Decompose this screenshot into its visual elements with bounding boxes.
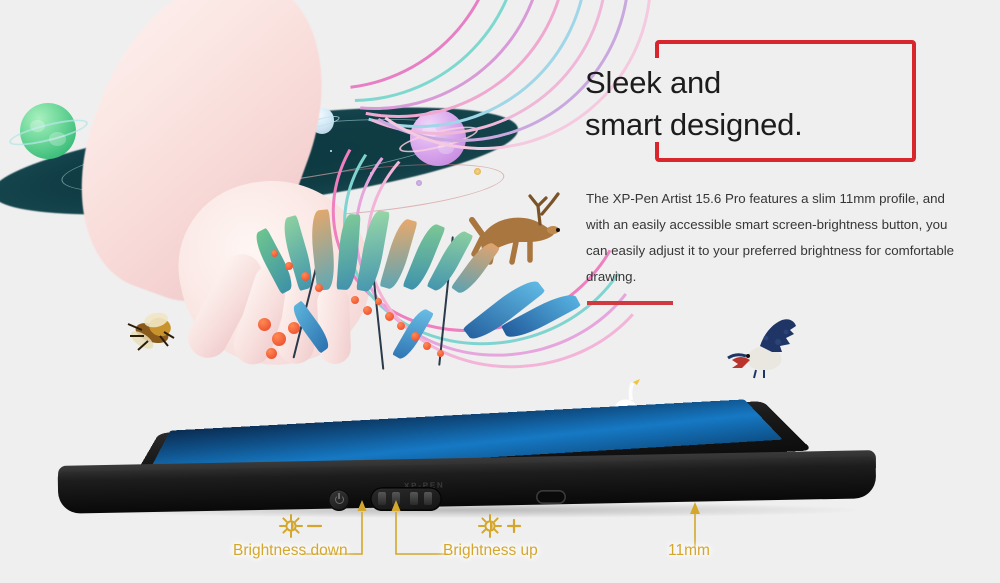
berry — [375, 298, 382, 305]
leaf — [309, 209, 337, 291]
leaf — [463, 274, 546, 346]
leaf — [251, 228, 298, 295]
berry — [385, 312, 394, 321]
planet-ring — [202, 119, 305, 164]
thickness-label: 11mm — [668, 542, 710, 560]
berry — [315, 284, 323, 292]
planet-spot — [49, 132, 66, 145]
leaf — [379, 217, 417, 291]
star — [262, 182, 264, 184]
leaf — [501, 288, 581, 343]
planet-tiny — [474, 168, 481, 175]
graphics-tablet — [40, 360, 880, 520]
planet-tiny — [416, 180, 422, 186]
berry — [423, 342, 431, 350]
page-title: Sleek and smart designed. — [585, 62, 803, 146]
finger — [229, 259, 297, 370]
sun-minus-icon — [277, 513, 329, 539]
planet-blue — [218, 104, 288, 174]
leaf — [289, 300, 334, 353]
star — [330, 150, 332, 152]
ribbon-strand — [112, 0, 593, 172]
brightness-down-label: Brightness down — [233, 542, 348, 560]
stem — [293, 242, 324, 359]
illustrated-palm — [163, 162, 387, 382]
star — [140, 168, 142, 170]
galaxy-ring — [58, 104, 462, 208]
planet-spot — [257, 136, 275, 151]
ribbon-strand — [91, 0, 568, 159]
berry — [363, 306, 372, 315]
leaf — [392, 306, 434, 362]
berry — [272, 332, 286, 346]
orbit-line — [233, 154, 506, 226]
planet-tiny — [300, 140, 308, 148]
leaf — [279, 215, 317, 291]
leaf — [451, 239, 500, 298]
ribbon-strand — [162, 0, 634, 184]
planet-pink — [410, 110, 466, 166]
berry — [288, 322, 300, 334]
planet-ring — [397, 122, 479, 158]
illustrated-arm — [45, 0, 360, 327]
stem — [438, 236, 454, 365]
star — [96, 152, 99, 155]
leaf — [356, 209, 390, 293]
planet-tiny — [216, 175, 222, 181]
leaf — [403, 221, 446, 293]
brightness-up-label: Brightness up — [443, 542, 538, 560]
berry — [411, 332, 420, 341]
planet-small-blue — [310, 108, 334, 134]
planet-green — [20, 103, 76, 159]
stem — [368, 230, 385, 369]
planet-spot — [232, 122, 247, 136]
galaxy-ellipse — [0, 86, 523, 236]
berry — [266, 348, 277, 359]
planet-spot — [238, 147, 251, 158]
berry — [397, 322, 405, 330]
leaf — [336, 213, 360, 290]
bee-icon — [112, 300, 184, 358]
planet-spot — [30, 120, 45, 132]
star — [480, 160, 482, 162]
poster-canvas: XP-PEN Brightness down Brig — [0, 0, 1000, 583]
planet-ring — [304, 114, 339, 130]
berry — [285, 262, 293, 270]
finger — [317, 285, 352, 364]
finger — [276, 270, 324, 366]
leaf — [427, 228, 474, 295]
berry — [437, 350, 444, 357]
usb-c-port — [536, 490, 566, 504]
planet-spot — [422, 126, 437, 138]
berry — [271, 250, 278, 257]
planet-ring — [7, 115, 89, 151]
ribbon-strand — [135, 0, 614, 180]
deer-icon — [468, 182, 568, 268]
berry — [351, 296, 359, 304]
body-paragraph: The XP-Pen Artist 15.6 Pro features a sl… — [586, 186, 956, 290]
berry — [258, 318, 271, 331]
star — [370, 172, 373, 175]
sun-plus-icon — [476, 513, 528, 539]
ribbon-strand — [188, 0, 648, 188]
planet-spot — [438, 141, 454, 153]
accent-rule — [587, 301, 673, 305]
star — [196, 145, 198, 147]
star — [440, 146, 442, 148]
berry — [301, 272, 310, 281]
finger — [181, 247, 269, 365]
